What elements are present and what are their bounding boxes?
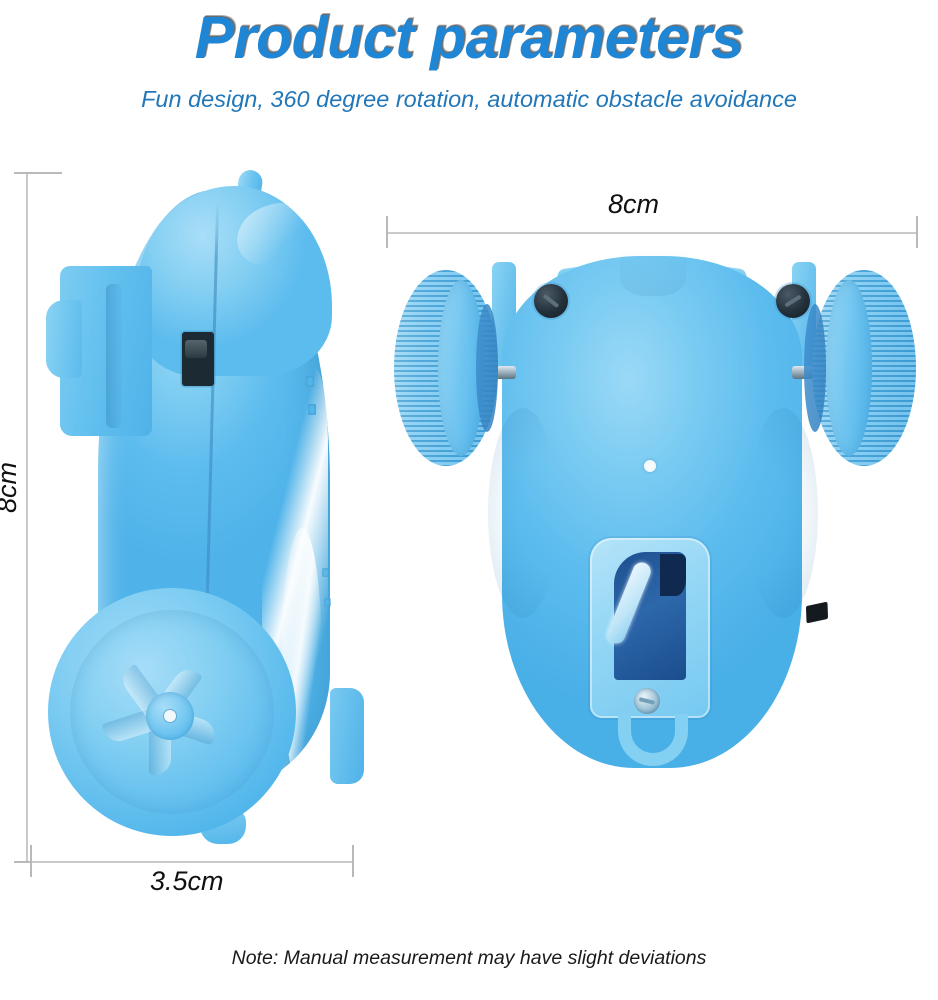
chassis-center-marker [644, 460, 656, 472]
page-title: Product parameters [0, 4, 938, 72]
body-vent-dot [324, 598, 331, 607]
dimension-line-left-width [30, 861, 354, 863]
dimension-line-right-width [386, 232, 918, 234]
product-side-view-image [40, 168, 385, 848]
power-switch-lever [185, 340, 207, 358]
chassis-notch-shape [620, 250, 686, 296]
dimension-tick-right-width-start [386, 216, 388, 248]
dimension-label-left-width: 3.5cm [150, 866, 224, 897]
battery-compartment-shadow [660, 554, 686, 596]
dimension-label-left-height: 8cm [0, 462, 23, 513]
wheel-hub-screw [164, 710, 176, 722]
header: Product parameters Fun design, 360 degre… [0, 0, 938, 140]
rear-bracket-tab-shape [46, 300, 82, 378]
page-subtitle: Fun design, 360 degree rotation, automat… [0, 86, 938, 113]
chassis-waist-shadow-right [748, 408, 818, 618]
chassis-waist-shadow-left [488, 408, 558, 618]
wheel-inner-rim-right [804, 304, 826, 432]
wheel-inner-rim-left [476, 304, 498, 432]
dimension-tick-left-width-start [30, 845, 32, 877]
dimension-line-left-height [26, 172, 28, 862]
body-vent-dot [322, 568, 329, 577]
measurement-note: Note: Manual measurement may have slight… [0, 947, 938, 970]
rear-foot-shape [330, 688, 364, 784]
product-bottom-view-image [392, 248, 918, 808]
dimension-tick-left-width-end [352, 845, 354, 877]
wheel-face-right [826, 280, 872, 456]
body-vent-dot [306, 376, 314, 387]
body-vent-dot [308, 404, 316, 415]
product-parameters-page: Product parameters Fun design, 360 degre… [0, 0, 938, 1000]
rear-bracket-notch-shape [106, 284, 122, 428]
dimension-label-right-width: 8cm [608, 189, 659, 220]
rubber-tab-shape [806, 602, 828, 624]
dimension-tick-right-width-end [916, 216, 918, 248]
